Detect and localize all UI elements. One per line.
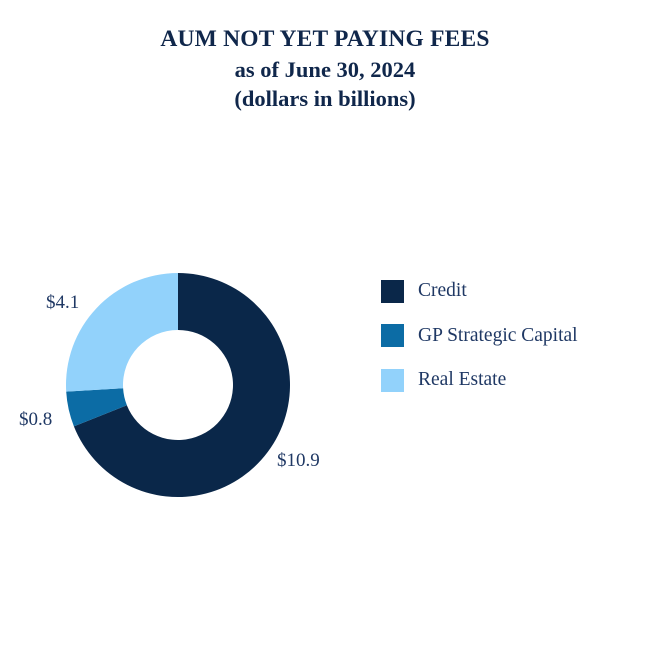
legend-swatch-credit <box>381 280 404 303</box>
data-label-gp-strategic-capital: $0.8 <box>19 409 52 431</box>
legend-label-gp-strategic-capital: GP Strategic Capital <box>418 325 578 347</box>
legend-label-credit: Credit <box>418 280 467 302</box>
legend-swatch-gp-strategic-capital <box>381 324 404 347</box>
legend-label-real-estate: Real Estate <box>418 369 506 391</box>
legend-swatch-real-estate <box>381 369 404 392</box>
legend-item-real-estate[interactable]: Real Estate <box>381 358 631 403</box>
data-label-real-estate: $4.1 <box>46 292 79 314</box>
chart-legend: Credit GP Strategic Capital Real Estate <box>381 269 631 403</box>
donut-slice-group <box>66 273 290 497</box>
donut-slice-real-estate[interactable] <box>66 273 178 392</box>
legend-item-gp-strategic-capital[interactable]: GP Strategic Capital <box>381 314 631 359</box>
legend-item-credit[interactable]: Credit <box>381 269 631 314</box>
data-label-credit: $10.9 <box>277 450 320 472</box>
